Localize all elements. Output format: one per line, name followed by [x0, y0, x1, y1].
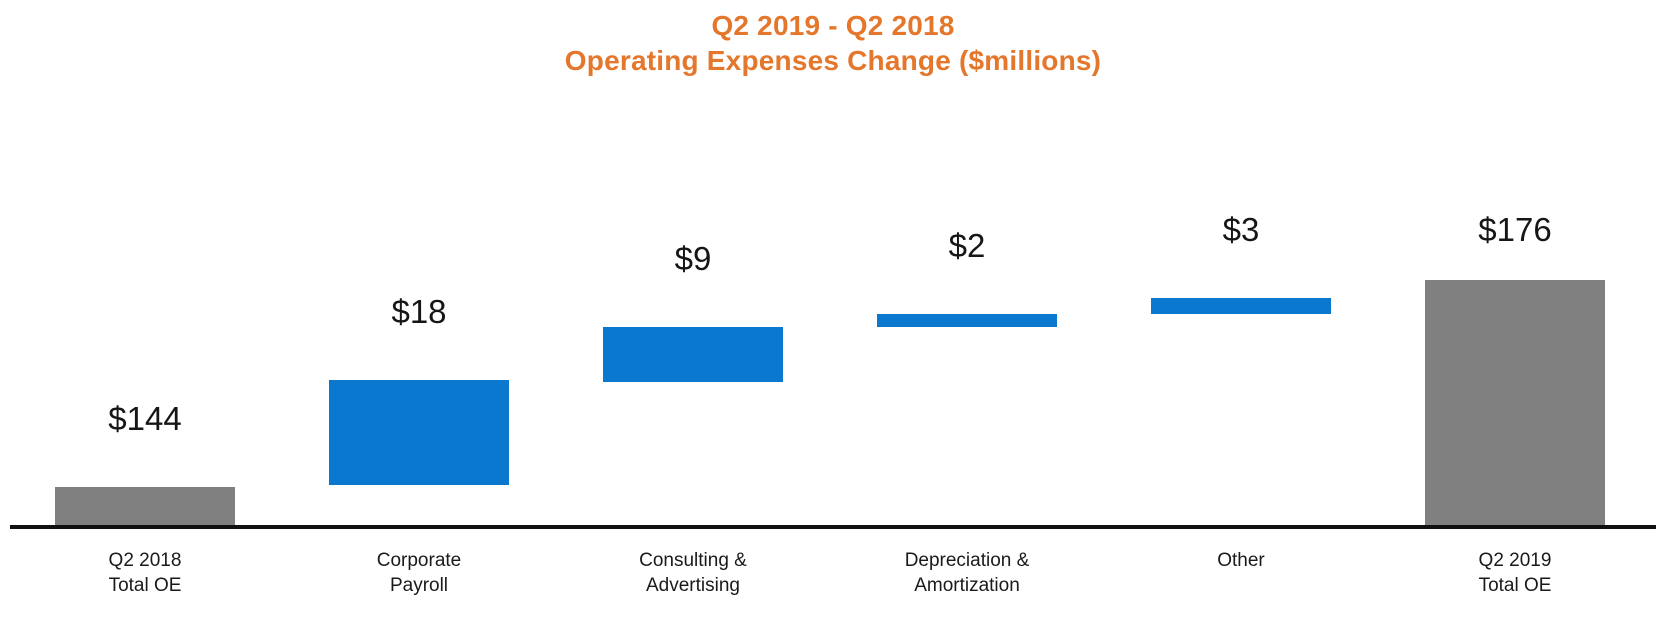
category-label-line-1: Other — [1151, 548, 1331, 573]
waterfall-chart: Q2 2019 - Q2 2018 Operating Expenses Cha… — [0, 0, 1666, 633]
category-label-line-1: Q2 2018 — [55, 548, 235, 573]
bar-other[interactable] — [1151, 298, 1331, 314]
bar-consulting-advertising[interactable] — [603, 327, 783, 382]
category-label-corporate-payroll: Corporate Payroll — [329, 548, 509, 598]
category-label-line-1: Corporate — [329, 548, 509, 573]
category-label-depreciation-amortization: Depreciation & Amortization — [877, 548, 1057, 598]
value-label-q2-2018-total-oe: $144 — [55, 400, 235, 438]
category-label-other: Other — [1151, 548, 1331, 573]
value-label-corporate-payroll: $18 — [329, 293, 509, 331]
category-label-q2-2019-total-oe: Q2 2019 Total OE — [1425, 548, 1605, 598]
value-label-q2-2019-total-oe: $176 — [1425, 211, 1605, 249]
category-label-line-2: Total OE — [1425, 573, 1605, 598]
category-label-line-2: Payroll — [329, 573, 509, 598]
value-label-other: $3 — [1151, 211, 1331, 249]
category-label-line-1: Depreciation & — [877, 548, 1057, 573]
bar-q2-2019-total-oe[interactable] — [1425, 280, 1605, 527]
bar-corporate-payroll[interactable] — [329, 380, 509, 485]
category-label-line-2: Advertising — [603, 573, 783, 598]
bar-depreciation-amortization[interactable] — [877, 314, 1057, 327]
category-label-line-2: Amortization — [877, 573, 1057, 598]
bar-q2-2018-total-oe[interactable] — [55, 487, 235, 527]
category-label-line-2: Total OE — [55, 573, 235, 598]
value-label-depreciation-amortization: $2 — [877, 227, 1057, 265]
category-label-q2-2018-total-oe: Q2 2018 Total OE — [55, 548, 235, 598]
plot-area: $144 $18 $9 $2 $3 $176 — [0, 0, 1666, 633]
category-label-line-1: Consulting & — [603, 548, 783, 573]
category-label-line-1: Q2 2019 — [1425, 548, 1605, 573]
value-label-consulting-advertising: $9 — [603, 240, 783, 278]
category-label-consulting-advertising: Consulting & Advertising — [603, 548, 783, 598]
axis-baseline — [10, 525, 1656, 529]
